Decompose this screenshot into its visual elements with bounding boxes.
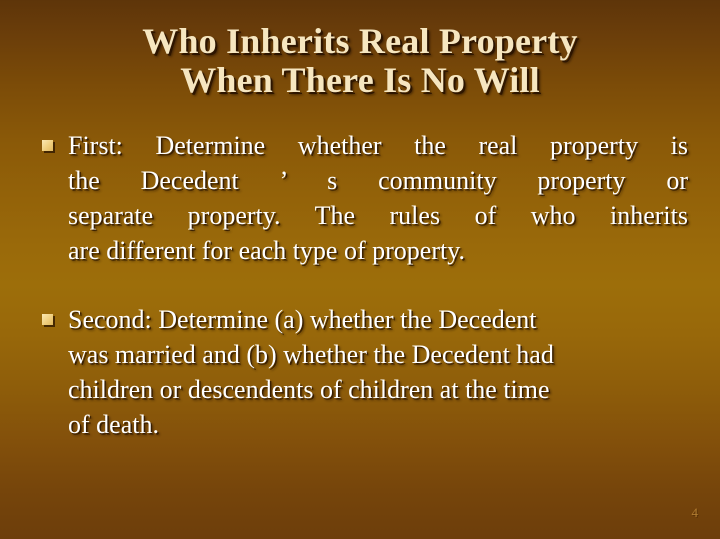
- bullet-line: First: Determine whether the real proper…: [68, 128, 688, 163]
- square-bullet-icon: [42, 140, 53, 151]
- slide-number: 4: [692, 505, 699, 521]
- list-item: First: Determine whether the real proper…: [40, 128, 688, 268]
- slide-canvas: Who Inherits Real Property When There Is…: [0, 0, 720, 539]
- bullet-line: are different for each type of property.: [68, 233, 688, 268]
- bullet-line: the Decedent ’ s community property or: [68, 163, 688, 198]
- bullet-line: was married and (b) whether the Decedent…: [68, 337, 688, 372]
- bullet-text-first: First: Determine whether the real proper…: [68, 128, 688, 268]
- bullet-line: children or descendents of children at t…: [68, 372, 688, 407]
- slide-title: Who Inherits Real Property When There Is…: [0, 22, 720, 100]
- bullet-line: separate property. The rules of who inhe…: [68, 198, 688, 233]
- list-item: Second: Determine (a) whether the Decede…: [40, 302, 688, 442]
- bullet-line: of death.: [68, 407, 688, 442]
- slide-body: First: Determine whether the real proper…: [40, 128, 688, 442]
- slide-title-line-1: Who Inherits Real Property: [0, 22, 720, 61]
- square-bullet-icon: [42, 314, 53, 325]
- slide-title-line-2: When There Is No Will: [0, 61, 720, 100]
- bullet-text-second: Second: Determine (a) whether the Decede…: [68, 302, 688, 442]
- bullet-line: Second: Determine (a) whether the Decede…: [68, 302, 688, 337]
